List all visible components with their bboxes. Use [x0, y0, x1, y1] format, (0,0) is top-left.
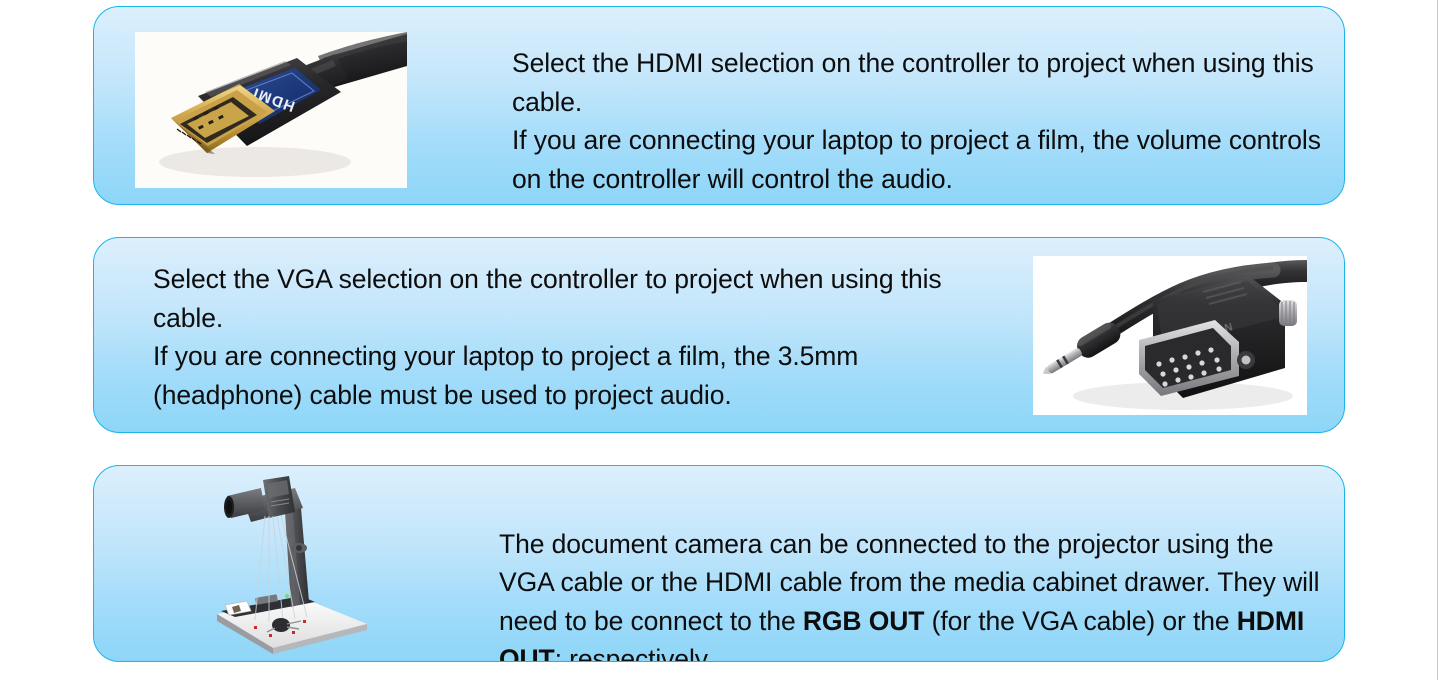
vga-cable-photo: EXTRON [1033, 256, 1307, 415]
document-camera-photo [199, 474, 374, 656]
doccam-run-2: (for the VGA cable) or the [924, 606, 1236, 636]
doccam-run-4: ; respectively. [555, 644, 714, 662]
info-panel-hdmi: HDMI [93, 6, 1345, 205]
hdmi-cable-illustration: HDMI [135, 32, 407, 188]
vga-cable-illustration: EXTRON [1033, 256, 1307, 415]
panel-vga-text: Select the VGA selection on the controll… [153, 260, 1003, 414]
panel-hdmi-text: Select the HDMI selection on the control… [512, 44, 1342, 198]
info-panel-vga: Select the VGA selection on the controll… [93, 237, 1345, 433]
panel-doccam-text: The document camera can be connected to … [499, 486, 1329, 662]
hdmi-cable-photo: HDMI [135, 32, 407, 188]
doccam-run-rgb-out: RGB OUT [803, 606, 925, 636]
info-panel-document-camera: The document camera can be connected to … [93, 465, 1345, 662]
document-camera-illustration [199, 474, 374, 656]
page-right-edge [1437, 0, 1438, 680]
